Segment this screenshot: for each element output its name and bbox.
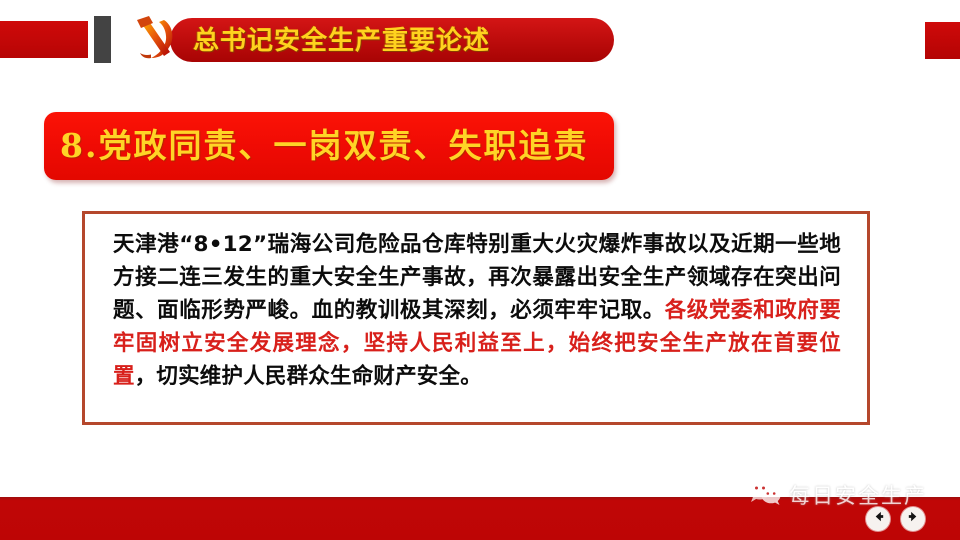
slide-navigation	[866, 507, 925, 531]
arrow-right-icon	[906, 509, 921, 529]
slide-canvas: 总书记安全生产重要论述 8.党政同责、一岗双责、失职追责 天津港“8•12”瑞海…	[0, 0, 960, 540]
next-slide-button[interactable]	[901, 507, 925, 531]
header-title: 总书记安全生产重要论述	[193, 19, 613, 63]
watermark-label: 每日安全生产	[789, 480, 927, 510]
wechat-icon	[748, 480, 782, 511]
header-bar: 总书记安全生产重要论述	[0, 0, 960, 80]
party-emblem-hammer-sickle-icon	[130, 14, 182, 66]
section-title-text: 8.党政同责、一岗双责、失职追责	[60, 112, 620, 180]
header-decor-block-gray	[94, 16, 111, 63]
prev-slide-button[interactable]	[866, 507, 890, 531]
header-decor-block-right	[925, 22, 960, 59]
arrow-left-icon	[871, 509, 886, 529]
content-paragraph: 天津港“8•12”瑞海公司危险品仓库特别重大火灾爆炸事故以及近期一些地方接二连三…	[113, 228, 841, 393]
content-plain-run: ，切实维护人民群众生命财产安全。	[135, 364, 482, 389]
header-decor-block-left	[0, 21, 88, 58]
